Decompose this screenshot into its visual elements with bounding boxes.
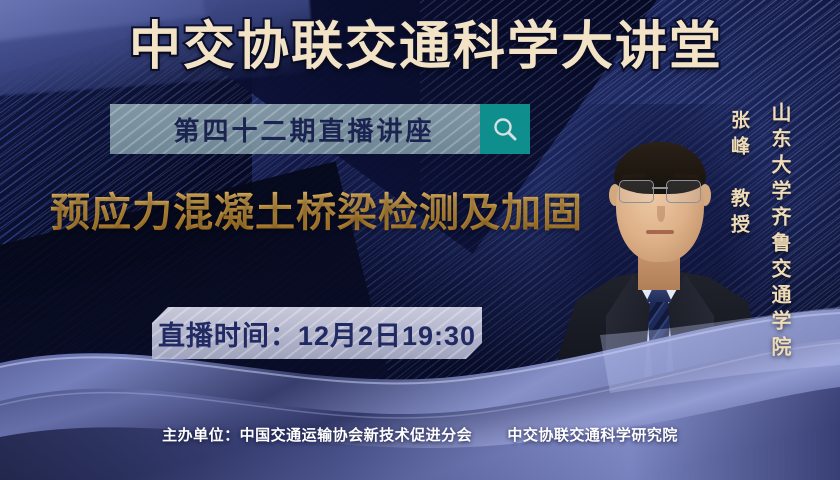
broadcast-time-pill: 直播时间：12月2日19:30 bbox=[152, 307, 482, 359]
lecture-topic-title: 预应力混凝土桥梁检测及加固 bbox=[50, 188, 583, 238]
search-icon[interactable] bbox=[480, 104, 530, 154]
organizer-primary: 主办单位：中国交通运输协会新技术促进分会 bbox=[162, 427, 472, 444]
episode-label: 第四十二期直播讲座 bbox=[110, 111, 480, 148]
broadcast-time-label: 直播时间：12月2日19:30 bbox=[158, 314, 476, 353]
footer-organizers: 主办单位：中国交通运输协会新技术促进分会 中交协联交通科学研究院 bbox=[0, 424, 840, 445]
glasses-icon bbox=[616, 180, 704, 204]
live-stream-poster: 中交协联交通科学大讲堂 第四十二期直播讲座 预应力混凝土桥梁检测及加固 直播时间… bbox=[0, 0, 840, 480]
page-title: 中交协联交通科学大讲堂 bbox=[0, 16, 840, 78]
speaker-name: 张峰 教授 bbox=[726, 110, 753, 240]
organizer-secondary: 中交协联交通科学研究院 bbox=[507, 427, 678, 444]
portrait-nose bbox=[657, 206, 665, 222]
glasses-lens-left bbox=[619, 180, 654, 203]
glasses-lens-right bbox=[666, 180, 701, 203]
speaker-affiliation: 山东大学齐鲁交通学院 bbox=[766, 102, 795, 362]
episode-banner: 第四十二期直播讲座 bbox=[110, 104, 530, 154]
portrait-mouth bbox=[646, 230, 674, 234]
